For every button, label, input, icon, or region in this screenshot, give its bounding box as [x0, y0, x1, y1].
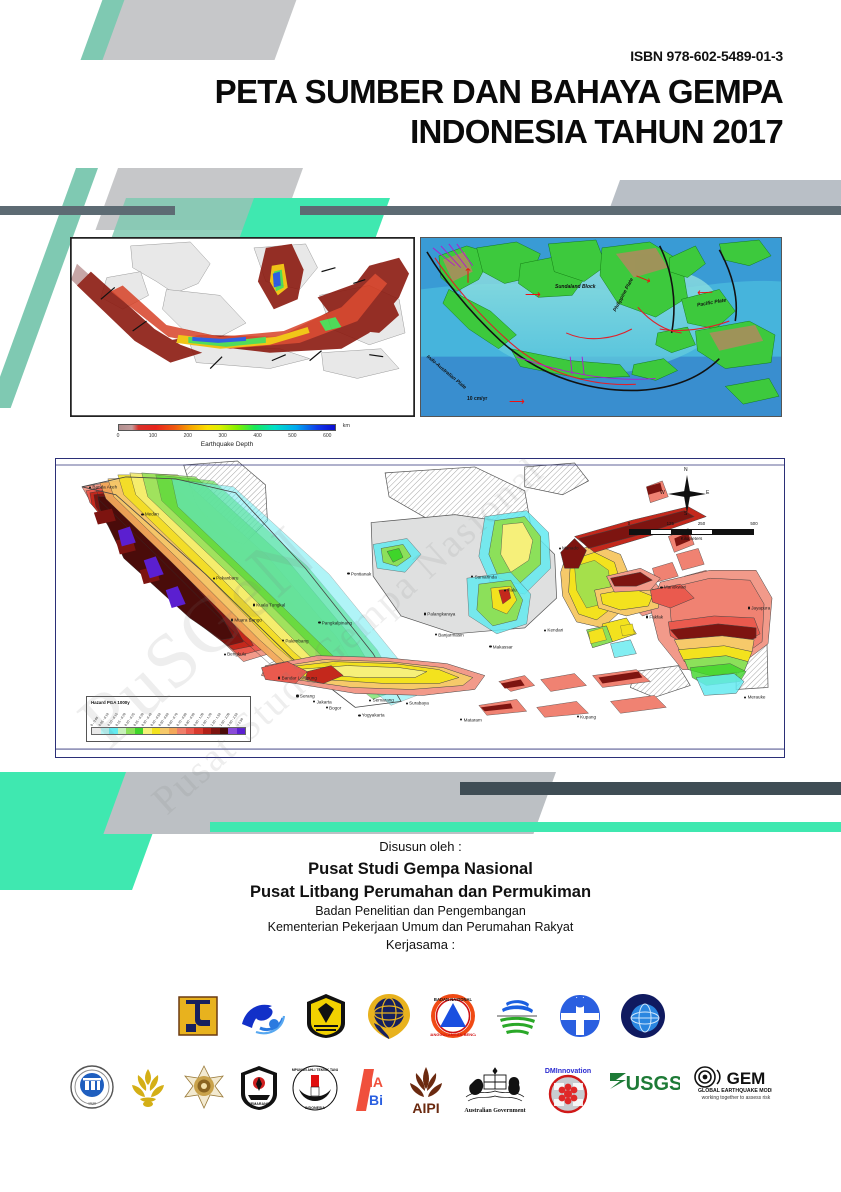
- colorbar-tick: 100: [149, 433, 157, 439]
- seismicity-map: 10° 5° 0° -5° -10° -15° 100° 110° 120° 1…: [70, 237, 415, 417]
- page-title: PETA SUMBER DAN BAHAYA GEMPA INDONESIA T…: [0, 72, 783, 153]
- hazard-legend: Hazard PGA 1000y 0 - 0.050.05 - 0.100.10…: [86, 696, 251, 742]
- hazard-legend-swatch: [143, 728, 152, 734]
- colorbar-tick: 200: [184, 433, 192, 439]
- city-label: Jakarta: [317, 699, 332, 704]
- city-label: Samarinda: [475, 574, 497, 579]
- compass-label-n: N: [684, 467, 688, 473]
- logo-usgs: USGS: [608, 1065, 680, 1099]
- city-label: Bandar Lampung: [282, 676, 317, 681]
- usgs-logo-icon: USGS: [608, 1065, 680, 1099]
- city-label: Fakfak: [649, 614, 663, 619]
- australian-government-caption: Australian Government: [464, 1108, 525, 1114]
- colorbar-tick: 400: [253, 433, 261, 439]
- iabi-logo-icon: IA Bi: [350, 1065, 390, 1113]
- colorbar-tick: 500: [288, 433, 296, 439]
- svg-text:HIMPUNAN AHLI TEKNIK TANAH: HIMPUNAN AHLI TEKNIK TANAH: [292, 1068, 338, 1072]
- hazard-legend-swatch: [135, 728, 144, 734]
- logo-iabi: IA Bi: [350, 1065, 390, 1113]
- logo-lipi: [620, 993, 666, 1039]
- earthquake-depth-colorbar: km 0 100 200 300 400 500 600 Earthquake …: [118, 424, 336, 431]
- itb-logo-icon: 1920: [70, 1065, 114, 1109]
- gem-subtitle: GLOBAL EARTHQUAKE MODEL: [697, 1088, 771, 1094]
- big-logo-icon: [366, 992, 412, 1040]
- aipi-text: AIPI: [412, 1100, 439, 1115]
- hazard-legend-swatch: [126, 728, 135, 734]
- svg-text:SEMARANG: SEMARANG: [248, 1102, 269, 1106]
- arrow-icon-velocity: ⟶: [509, 397, 525, 408]
- logo-bnpb: BADAN NASIONAL PENANGGULANGAN BENCANA: [430, 993, 476, 1039]
- hazard-legend-swatch: [92, 728, 101, 734]
- ui-logo-icon: [126, 1065, 170, 1109]
- scalebar-tick: 250: [698, 521, 705, 526]
- hazard-legend-swatch: [177, 728, 186, 734]
- logo-big: [366, 992, 412, 1040]
- gem-logo-icon: GEM GLOBAL EARTHQUAKE MODEL working toge…: [692, 1065, 772, 1103]
- logo-ui: [126, 1065, 170, 1109]
- usgs-wordmark: USGS: [625, 1073, 679, 1095]
- svg-text:1920: 1920: [88, 1101, 96, 1106]
- city-label: Palu: [507, 588, 516, 593]
- dminnovation-wordmark: DMInnovation: [544, 1068, 590, 1075]
- colorbar-tick: 300: [218, 433, 226, 439]
- city-label: Muara Bungo: [234, 617, 262, 622]
- colorbar-title: Earthquake Depth: [118, 441, 336, 448]
- colorbar-gradient: [118, 424, 336, 431]
- esdm-logo-icon: [304, 993, 348, 1039]
- credits-block: Disusun oleh : Pusat Studi Gempa Nasiona…: [0, 838, 841, 954]
- city-label: Kupang: [580, 714, 596, 719]
- deco-parallelogram-grey-mid: [118, 168, 303, 230]
- city-label: Palangkaraya: [427, 611, 455, 616]
- hazard-legend-swatch: [152, 728, 161, 734]
- city-label: Jayapura: [751, 606, 770, 611]
- deco-bar-dark-right: [300, 206, 841, 215]
- svg-text:BADAN NASIONAL: BADAN NASIONAL: [433, 997, 472, 1002]
- tectonic-map-canvas: [421, 238, 781, 416]
- hazard-legend-swatch: [160, 728, 169, 734]
- logo-pupr: [176, 994, 220, 1038]
- arrow-icon-indo-australian: ⟶: [463, 268, 474, 284]
- ristekdikti-logo-icon: [558, 993, 602, 1039]
- hazard-legend-swatch: [101, 728, 110, 734]
- colorbar-tick: 600: [323, 433, 331, 439]
- hazard-legend-swatch: [109, 728, 118, 734]
- city-label: Kendari: [547, 628, 563, 633]
- seismicity-map-canvas: [71, 238, 414, 416]
- lipi-logo-icon: [620, 993, 666, 1039]
- city-label: Mataram: [464, 717, 482, 722]
- hazard-legend-swatch: [228, 728, 237, 734]
- tectonic-velocity-label: 10 cm/yr: [467, 396, 487, 402]
- deco-bar-dark-left: [0, 206, 175, 215]
- logo-undip: SEMARANG: [238, 1065, 280, 1111]
- logo-dminnovation: DMInnovation: [540, 1065, 596, 1115]
- city-label: Serang: [300, 693, 315, 698]
- tectonic-label-sundaland: Sundaland Block: [555, 284, 596, 290]
- svg-text:PENANGGULANGAN BENCANA: PENANGGULANGAN BENCANA: [430, 1032, 476, 1037]
- page-title-line2: INDONESIA TAHUN 2017: [0, 112, 783, 152]
- scalebar-ticks: 0 125 250 500: [629, 521, 754, 529]
- deco-parallelogram-teal-mid: [126, 198, 266, 238]
- logo-bmkg: [494, 994, 540, 1038]
- city-label: Bogor: [329, 705, 341, 710]
- iabi-text-a: IA: [369, 1074, 383, 1090]
- city-label: Merauke: [748, 695, 766, 700]
- pupr-logo-icon: [176, 994, 220, 1038]
- organization-litbang: Pusat Litbang Perumahan dan Permukiman: [0, 881, 841, 903]
- deco-parallelogram-grey-top: [120, 0, 300, 60]
- hazard-legend-class-label: 0 - 0.05: [89, 716, 98, 727]
- city-label: Banda Aceh: [92, 485, 117, 490]
- hazard-legend-swatch: [237, 728, 246, 734]
- undip-logo-icon: SEMARANG: [238, 1065, 280, 1111]
- colorbar-unit: km: [343, 423, 350, 429]
- hazard-legend-swatch: [211, 728, 220, 734]
- partner-logos-row-2: 1920: [0, 1065, 841, 1143]
- organization-kempupr: Kementerian Pekerjaan Umum dan Perumahan…: [0, 919, 841, 936]
- logo-ristekdikti: [558, 993, 602, 1039]
- arrow-icon-pacific: ⟶: [697, 286, 713, 298]
- city-label: Makassar: [493, 644, 513, 649]
- organization-balitbang: Badan Penelitian dan Pengembangan: [0, 903, 841, 920]
- bmkg-logo-icon: [494, 994, 540, 1038]
- logo-itb: 1920: [70, 1065, 114, 1109]
- logo-esdm-geologi: [304, 993, 348, 1039]
- gem-tagline: working together to assess risk: [701, 1095, 770, 1101]
- city-label: Manado: [562, 546, 579, 551]
- scalebar-caption: Kilometers: [629, 536, 754, 541]
- deco-bar-mint-bottom: [210, 822, 841, 832]
- hazard-map: 94° E 96° E 98° E 100° E 102° E 104° E 1…: [55, 458, 785, 758]
- hazard-legend-bar: [91, 727, 246, 735]
- logo-hatti: HIMPUNAN AHLI TEKNIK TANAH INDONESIA: [292, 1065, 338, 1111]
- city-label: Kuala Tungkal: [256, 603, 285, 608]
- city-label: Manokwari: [664, 585, 686, 590]
- city-label: Pontianak: [351, 571, 371, 576]
- arrow-icon-sundaland: ⟶: [525, 290, 541, 301]
- logo-gem: GEM GLOBAL EARTHQUAKE MODEL working toge…: [692, 1065, 772, 1103]
- city-label: Bengkulu: [227, 652, 246, 657]
- city-label: Pekanbaru: [216, 576, 238, 581]
- organization-pusgen: Pusat Studi Gempa Nasional: [0, 858, 841, 880]
- logo-bppt: [238, 994, 286, 1038]
- city-label: Semarang: [373, 698, 394, 703]
- compass-label-w: W: [660, 490, 665, 496]
- aipi-logo-icon: AIPI: [402, 1065, 450, 1115]
- partners-label: Kerjasama :: [0, 936, 841, 953]
- hatti-logo-icon: HIMPUNAN AHLI TEKNIK TANAH INDONESIA: [292, 1065, 338, 1111]
- partner-logos-row-1: BADAN NASIONAL PENANGGULANGAN BENCANA: [0, 982, 841, 1050]
- tectonic-setting-map: Sundaland Block ⟶ Philippine Plate ⟶ Pac…: [420, 237, 782, 417]
- compass-label-e: E: [706, 490, 709, 496]
- hazard-legend-swatch: [118, 728, 127, 734]
- iabi-text-b: Bi: [369, 1092, 383, 1108]
- colorbar-tick: 0: [117, 433, 120, 439]
- logo-ugm: [182, 1065, 226, 1109]
- scalebar-tick: 125: [667, 521, 674, 526]
- city-label: Medan: [145, 512, 159, 517]
- bppt-logo-icon: [238, 994, 286, 1038]
- city-label: Palembang: [285, 638, 308, 643]
- city-label: Banjarmasin: [438, 632, 464, 637]
- hazard-legend-ticks: 0 - 0.050.05 - 0.100.10 - 0.150.15 - 0.2…: [91, 705, 246, 727]
- map-scalebar: 0 125 250 500 Kilometers: [629, 521, 754, 541]
- compass-rose-icon: N E S W: [664, 471, 710, 517]
- hazard-legend-swatch: [186, 728, 195, 734]
- hazard-legend-swatch: [169, 728, 178, 734]
- bnpb-logo-icon: BADAN NASIONAL PENANGGULANGAN BENCANA: [430, 993, 476, 1039]
- australian-government-crest-icon: Australian Government: [462, 1065, 528, 1115]
- page-title-line1: PETA SUMBER DAN BAHAYA GEMPA: [0, 72, 783, 112]
- hazard-legend-swatch: [203, 728, 212, 734]
- deco-parallelogram-grey-bottom: [126, 772, 556, 834]
- hazard-legend-swatch: [194, 728, 203, 734]
- isbn-text: ISBN 978-602-5489-01-3: [630, 48, 783, 64]
- scalebar-tick: 0: [628, 521, 630, 526]
- compass-label-s: S: [684, 511, 687, 517]
- deco-bar-dark-bottom: [460, 782, 841, 795]
- scalebar-tick: 500: [750, 521, 757, 526]
- gem-wordmark: GEM: [726, 1069, 765, 1088]
- city-label: Yogyakarta: [362, 713, 385, 718]
- city-label: Surabaya: [409, 701, 429, 706]
- prepared-by-label: Disusun oleh :: [0, 838, 841, 855]
- scalebar-bar: [629, 529, 754, 535]
- dminnovation-logo-icon: DMInnovation: [540, 1065, 596, 1115]
- hazard-legend-class-label: > 2.50: [236, 717, 244, 727]
- logo-aipi: AIPI: [402, 1065, 450, 1115]
- hazard-legend-swatch: [220, 728, 229, 734]
- city-label: Pangkalpinang: [322, 620, 352, 625]
- ugm-logo-icon: [182, 1065, 226, 1109]
- deco-parallelogram-teal-top: [106, 0, 128, 60]
- svg-text:INDONESIA: INDONESIA: [305, 1106, 325, 1110]
- logo-australian-government: Australian Government: [462, 1065, 528, 1115]
- deco-parallelogram-mint-top: [254, 198, 390, 238]
- deco-parallelogram-grey-right: [620, 180, 841, 210]
